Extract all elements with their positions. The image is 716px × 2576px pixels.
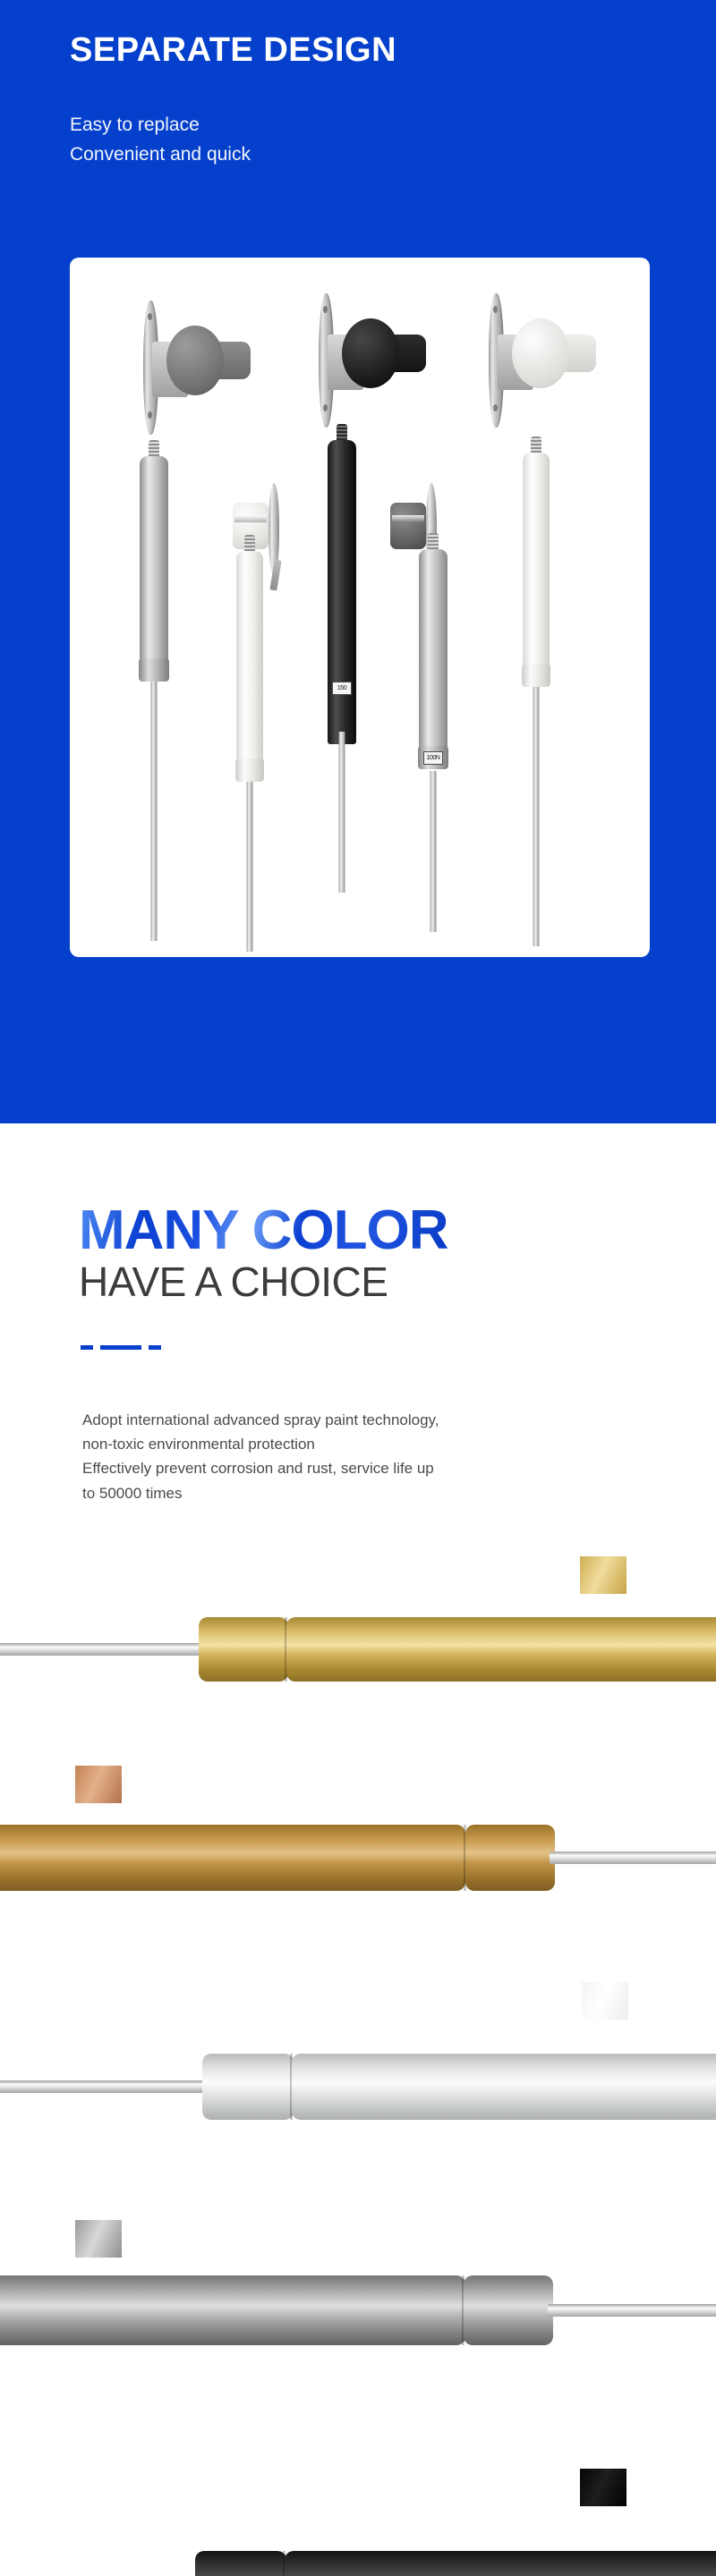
spring-rod	[0, 1643, 224, 1656]
white-gas-spring-2	[523, 436, 550, 723]
spring-cap	[465, 1825, 555, 1891]
silver-gas-spring	[0, 2275, 716, 2345]
spring-cap	[195, 2551, 286, 2576]
clip-band	[234, 515, 267, 522]
body-line-3: Effectively prevent corrosion and rust, …	[82, 1456, 655, 1480]
spring-tube	[0, 2275, 465, 2345]
bracket-knob	[342, 318, 399, 388]
dash-short-right	[149, 1345, 161, 1350]
spring-label: 100N	[423, 751, 443, 765]
page-title: SEPARATE DESIGN	[70, 32, 396, 70]
white-swatch	[582, 1982, 628, 2020]
colors-section: MANY COLOR HAVE A CHOICE Adopt internati…	[0, 1123, 716, 2576]
spring-collar	[235, 758, 264, 782]
white-gas-spring	[236, 535, 263, 803]
bracket-knob	[166, 326, 224, 395]
thread-tip	[428, 533, 439, 551]
spring-tube	[236, 551, 263, 771]
gold-spring-row	[0, 1544, 716, 1750]
hero-subtitle-line-1: Easy to replace	[70, 111, 251, 140]
spring-rod	[151, 682, 158, 941]
headline-have-a-choice: HAVE A CHOICE	[79, 1260, 448, 1303]
spring-tube	[285, 2551, 716, 2576]
black-spring-row	[0, 2394, 716, 2576]
spring-label: 150	[332, 682, 352, 695]
black-swatch	[580, 2469, 626, 2506]
colors-body-copy: Adopt international advanced spray paint…	[82, 1408, 655, 1505]
body-line-1: Adopt international advanced spray paint…	[82, 1408, 655, 1432]
spring-rod	[550, 1851, 716, 1864]
clip-band	[392, 515, 424, 522]
spring-rod	[548, 2304, 716, 2317]
spring-tube	[292, 2054, 716, 2120]
black-gas-spring	[0, 2551, 716, 2576]
thread-tip	[531, 436, 541, 454]
bronze-spring-row	[0, 1750, 716, 1955]
silver-gas-spring	[140, 440, 168, 708]
thread-tip	[149, 440, 159, 458]
spring-collar	[139, 658, 169, 682]
spring-rod	[0, 2080, 224, 2093]
white-gas-spring	[0, 2054, 716, 2120]
headline-many-color: MANY COLOR	[79, 1204, 448, 1258]
spring-tube	[0, 1825, 465, 1891]
white-spring-row	[0, 1955, 716, 2170]
spring-tube	[286, 1617, 716, 1682]
silver-spring-row	[0, 2170, 716, 2394]
bronze-gas-spring	[0, 1825, 716, 1891]
spring-rod	[430, 771, 437, 932]
hero-subtitle: Easy to replace Convenient and quick	[70, 111, 251, 169]
divider-dashes	[81, 1345, 161, 1350]
dash-short-left	[81, 1345, 93, 1350]
spring-cap	[199, 1617, 288, 1682]
spring-tube	[419, 549, 447, 758]
silver-gas-spring-2: 100N	[419, 533, 447, 801]
black-gas-spring: 150	[328, 424, 356, 728]
hero-subtitle-line-2: Convenient and quick	[70, 140, 251, 170]
spring-tube	[328, 440, 356, 744]
bronze-swatch	[75, 1766, 122, 1803]
spring-tube	[523, 453, 550, 676]
gold-gas-spring	[0, 1617, 716, 1682]
thread-tip	[337, 424, 347, 442]
hero-section: SEPARATE DESIGN Easy to replace Convenie…	[0, 0, 716, 1123]
spring-rod	[247, 782, 253, 952]
bracket-knob	[512, 318, 569, 388]
spring-rod	[339, 732, 345, 893]
product-photo-card: 150 100N	[70, 258, 650, 957]
spring-rod	[533, 687, 540, 946]
body-line-2: non-toxic environmental protection	[82, 1432, 655, 1456]
silver-swatch	[75, 2220, 122, 2258]
dash-long	[100, 1345, 141, 1350]
colors-headline: MANY COLOR HAVE A CHOICE	[79, 1204, 448, 1303]
thread-tip	[244, 535, 255, 553]
gold-swatch	[580, 1556, 626, 1594]
product-photo: 150 100N	[70, 258, 650, 957]
spring-tube	[140, 456, 168, 671]
body-line-4: to 50000 times	[82, 1481, 655, 1505]
spring-cap	[464, 2275, 553, 2345]
spring-cap	[202, 2054, 294, 2120]
spring-collar	[522, 664, 550, 687]
